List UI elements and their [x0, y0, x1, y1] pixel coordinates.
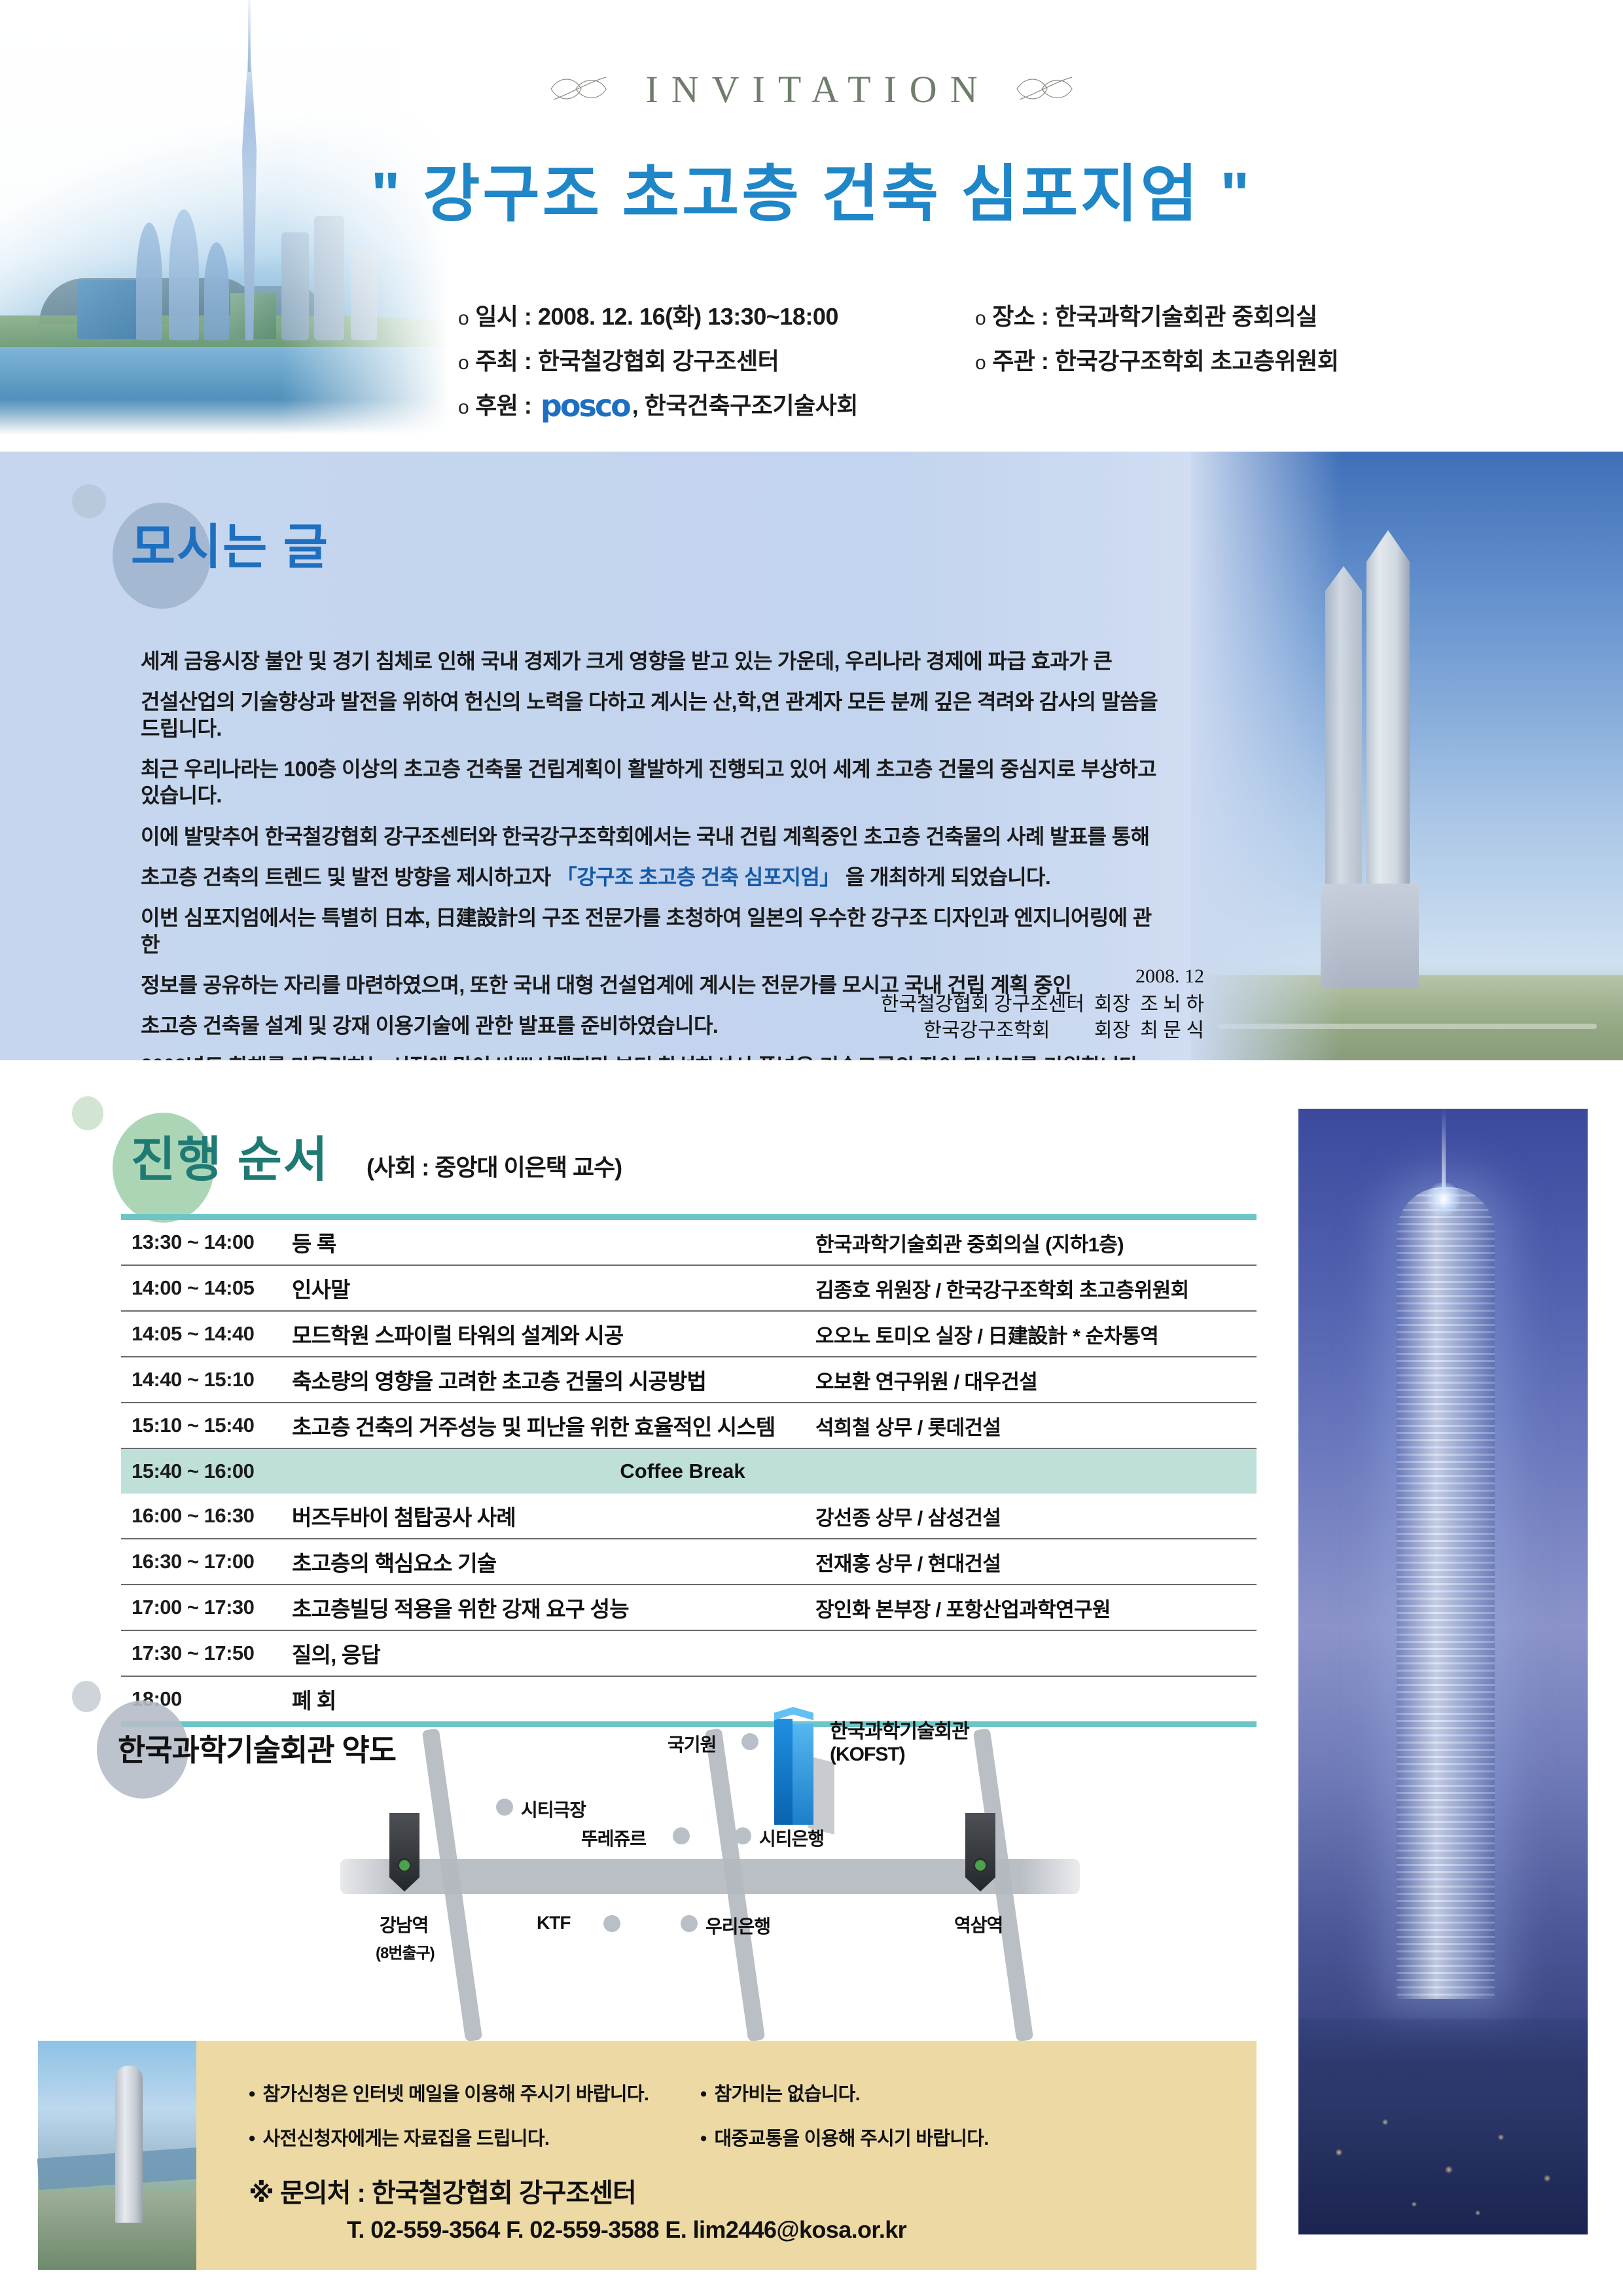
map-poi-dot: [673, 1827, 690, 1844]
footer-note: •참가신청은 인터넷 메일을 이용해 주시기 바랍니다.: [249, 2079, 700, 2106]
program-heading: 진행 순서: [131, 1121, 329, 1191]
row-topic: 초고층빌딩 적용을 위한 강재 요구 성능: [292, 1592, 815, 1623]
row-speaker: 한국과학기술회관 중회의실 (지하1층): [815, 1228, 1257, 1257]
page-title: " 강구조 초고층 건축 심포지엄 ": [353, 144, 1270, 234]
meta-sponsor: ο후원 : posco, 한국건축구조기술사회: [458, 387, 1243, 423]
bullet-icon: •: [249, 2084, 255, 2105]
greeting-section: 모시는 글 세계 금융시장 불안 및 경기 침체로 인해 국내 경제가 크게 영…: [0, 452, 1623, 1060]
greeting-paragraph: 최근 우리나라는 100층 이상의 초고층 건축물 건립계획이 활발하게 진행되…: [141, 756, 1162, 809]
map-label-citibank: 시티은행: [759, 1825, 824, 1851]
table-row: 14:00 ~ 14:05인사말김종호 위원장 / 한국강구조학회 초고층위원회: [121, 1266, 1257, 1312]
map-label-gukgiwon: 국기원: [668, 1731, 716, 1757]
row-time: 14:40 ~ 15:10: [121, 1368, 292, 1391]
row-break-label: Coffee Break: [292, 1460, 1257, 1483]
bullet-icon: ο: [458, 352, 469, 374]
row-topic: 모드학원 스파이럴 타워의 설계와 시공: [292, 1318, 815, 1350]
map-poi-dot: [681, 1915, 698, 1932]
tower-rendering-image: [1191, 452, 1623, 1060]
greeting-paragraph: 이번 심포지엄에서는 특별히 日本, 日建設計의 구조 전문가를 초청하여 일본…: [141, 905, 1162, 958]
map-poi-dot: [734, 1827, 751, 1844]
contact-line: T. 02-559-3564 F. 02-559-3588 E. lim2446…: [347, 2216, 906, 2244]
symposium-title-highlight: 「강구조 초고층 건축 심포지엄」: [556, 865, 840, 889]
meta-host: ο주최 : 한국철강협회 강구조센터: [458, 342, 975, 376]
location-map: 한국과학기술회관 약도 한국과학기술회관(KOFST) 국기원 시티극장 뚜레쥬…: [0, 1662, 1309, 2029]
greeting-paragraph: 세계 금융시장 불안 및 경기 침체로 인해 국내 경제가 크게 영향을 받고 …: [141, 648, 1162, 674]
table-row: 14:40 ~ 15:10축소량의 영향을 고려한 초고층 건물의 시공방법오보…: [121, 1357, 1257, 1403]
flourish-ornament-right: [1013, 71, 1076, 107]
footer-section: •참가신청은 인터넷 메일을 이용해 주시기 바랍니다. •사전신청자에게는 자…: [0, 2022, 1623, 2296]
posco-logo: posco: [541, 388, 630, 423]
meta-organizer: ο주관 : 한국강구조학회 초고층위원회: [975, 342, 1564, 376]
map-label-tous-les-jours: 뚜레쥬르: [581, 1825, 646, 1851]
bullet-icon: ο: [458, 397, 469, 418]
table-row: 13:30 ~ 14:00등 록한국과학기술회관 중회의실 (지하1층): [121, 1220, 1257, 1266]
map-label-ktf: KTF: [537, 1912, 570, 1933]
decorative-dot-small: [72, 1681, 101, 1712]
subway-logo-icon: [397, 1857, 412, 1873]
map-label-yeoksam-station: 역삼역: [954, 1911, 1003, 1937]
meta-venue: ο장소 : 한국과학기술회관 중회의실: [975, 298, 1564, 332]
map-label-gangnam-exit: (8번출구): [376, 1940, 435, 1963]
row-speaker: 김종호 위원장 / 한국강구조학회 초고층위원회: [815, 1274, 1257, 1303]
footer-note: •사전신청자에게는 자료집을 드립니다.: [249, 2123, 700, 2151]
event-meta-block: ο일시 : 2008. 12. 16(화) 13:30~18:00 ο장소 : …: [458, 298, 1584, 434]
bullet-icon: •: [249, 2128, 255, 2149]
row-time: 17:30 ~ 17:50: [121, 1641, 292, 1665]
row-time: 16:00 ~ 16:30: [121, 1504, 292, 1528]
decorative-dot-small: [72, 484, 106, 518]
footer-note: •대중교통을 이용해 주시기 바랍니다.: [700, 2123, 1152, 2151]
map-poi-dot: [603, 1915, 620, 1932]
subway-logo-icon: [972, 1857, 988, 1873]
table-row: 15:40 ~ 16:00Coffee Break: [121, 1449, 1257, 1494]
signature-date: 2008. 12: [759, 965, 1204, 988]
table-row: 16:00 ~ 16:30버즈두바이 첨탑공사 사례강선종 상무 / 삼성건설: [121, 1494, 1257, 1539]
greeting-paragraph: 이에 발맞추어 한국철강협회 강구조센터와 한국강구조학회에서는 국내 건립 계…: [141, 823, 1162, 850]
hero-section: INVITATION " 강구조 초고층 건축 심포지엄 " ο일시 : 200…: [0, 0, 1623, 452]
table-top-rule: [121, 1214, 1257, 1220]
signature-line: 한국강구조학회 회장 최 문 식: [759, 1018, 1204, 1044]
footer-note: •참가비는 없습니다.: [700, 2079, 1152, 2106]
row-time: 15:40 ~ 16:00: [121, 1460, 292, 1483]
table-row: 15:10 ~ 15:40초고층 건축의 거주성능 및 피난을 위한 효율적인 …: [121, 1403, 1257, 1449]
row-speaker: 강선종 상무 / 삼성건설: [815, 1501, 1257, 1531]
decorative-dot-small: [72, 1096, 103, 1130]
greeting-paragraph: 건설산업의 기술향상과 발전을 위하여 헌신의 노력을 다하고 계시는 산,학,…: [141, 689, 1162, 742]
subway-station-marker-yeoksam: [965, 1813, 995, 1892]
kofst-building-icon: [774, 1707, 813, 1825]
bullet-icon: •: [700, 2084, 706, 2105]
row-topic: 인사말: [292, 1272, 815, 1304]
meta-date: ο일시 : 2008. 12. 16(화) 13:30~18:00: [458, 298, 975, 332]
row-topic: 초고층 건축의 거주성능 및 피난을 위한 효율적인 시스템: [292, 1410, 815, 1441]
bullet-icon: ο: [458, 308, 469, 329]
table-row: 17:00 ~ 17:30초고층빌딩 적용을 위한 강재 요구 성능장인화 본부…: [121, 1585, 1257, 1631]
row-time: 16:30 ~ 17:00: [121, 1550, 292, 1573]
map-title: 한국과학기술회관 약도: [118, 1727, 396, 1770]
greeting-heading: 모시는 글: [131, 508, 329, 578]
signature-block: 2008. 12 한국철강협회 강구조센터 회장 조 뇌 하 한국강구조학회 회…: [759, 965, 1204, 1044]
map-label-kofst: 한국과학기술회관(KOFST): [830, 1720, 969, 1767]
row-topic: 축소량의 영향을 고려한 초고층 건물의 시공방법: [292, 1364, 815, 1395]
schedule-table: 13:30 ~ 14:00등 록한국과학기술회관 중회의실 (지하1층)14:0…: [121, 1214, 1257, 1727]
row-topic: 버즈두바이 첨탑공사 사례: [292, 1500, 815, 1532]
table-row: 16:30 ~ 17:00초고층의 핵심요소 기술전재홍 상무 / 현대건설: [121, 1539, 1257, 1585]
footer-notes: •참가신청은 인터넷 메일을 이용해 주시기 바랍니다. •사전신청자에게는 자…: [249, 2079, 1217, 2168]
row-speaker: 전재홍 상무 / 현대건설: [815, 1547, 1257, 1577]
row-time: 15:10 ~ 15:40: [121, 1414, 292, 1437]
flourish-ornament-left: [547, 71, 610, 107]
map-label-woori-bank: 우리은행: [705, 1912, 770, 1939]
row-time: 13:30 ~ 14:00: [121, 1230, 292, 1254]
footer-info-box: •참가신청은 인터넷 메일을 이용해 주시기 바랍니다. •사전신청자에게는 자…: [196, 2041, 1257, 2270]
bullet-icon: ο: [975, 352, 986, 374]
invitation-header: INVITATION: [484, 63, 1139, 115]
bullet-icon: •: [700, 2128, 706, 2149]
map-poi-dot: [496, 1799, 513, 1816]
signature-line: 한국철강협회 강구조센터 회장 조 뇌 하: [759, 992, 1204, 1018]
invitation-word: INVITATION: [632, 67, 990, 111]
row-time: 17:00 ~ 17:30: [121, 1596, 292, 1619]
program-subheading: (사회 : 중앙대 이은택 교수): [366, 1149, 622, 1183]
row-topic: 등 록: [292, 1227, 815, 1258]
map-poi-dot: [741, 1733, 758, 1750]
row-topic: 초고층의 핵심요소 기술: [292, 1546, 815, 1577]
bullet-icon: ο: [975, 308, 986, 329]
contact-title: ※ 문의처 : 한국철강협회 강구조센터: [249, 2172, 636, 2210]
row-time: 14:05 ~ 14:40: [121, 1322, 292, 1346]
row-time: 14:00 ~ 14:05: [121, 1276, 292, 1300]
row-speaker: 오보환 연구위원 / 대우건설: [815, 1365, 1257, 1395]
row-speaker: 석희철 상무 / 롯데건설: [815, 1411, 1257, 1441]
table-row: 14:05 ~ 14:40모드학원 스파이럴 타워의 설계와 시공오오노 토미오…: [121, 1312, 1257, 1357]
row-speaker: 오오노 토미오 실장 / 日建設計 * 순차통역: [815, 1319, 1257, 1349]
map-label-gangnam-station: 강남역: [380, 1911, 428, 1937]
map-label-city-theater: 시티극장: [521, 1796, 586, 1822]
subway-station-marker-gangnam: [389, 1813, 419, 1892]
row-speaker: 장인화 본부장 / 포항산업과학연구원: [815, 1593, 1257, 1623]
greeting-paragraph-highlight: 초고층 건축의 트렌드 및 발전 방향을 제시하고자 「강구조 초고층 건축 심…: [141, 864, 1162, 890]
